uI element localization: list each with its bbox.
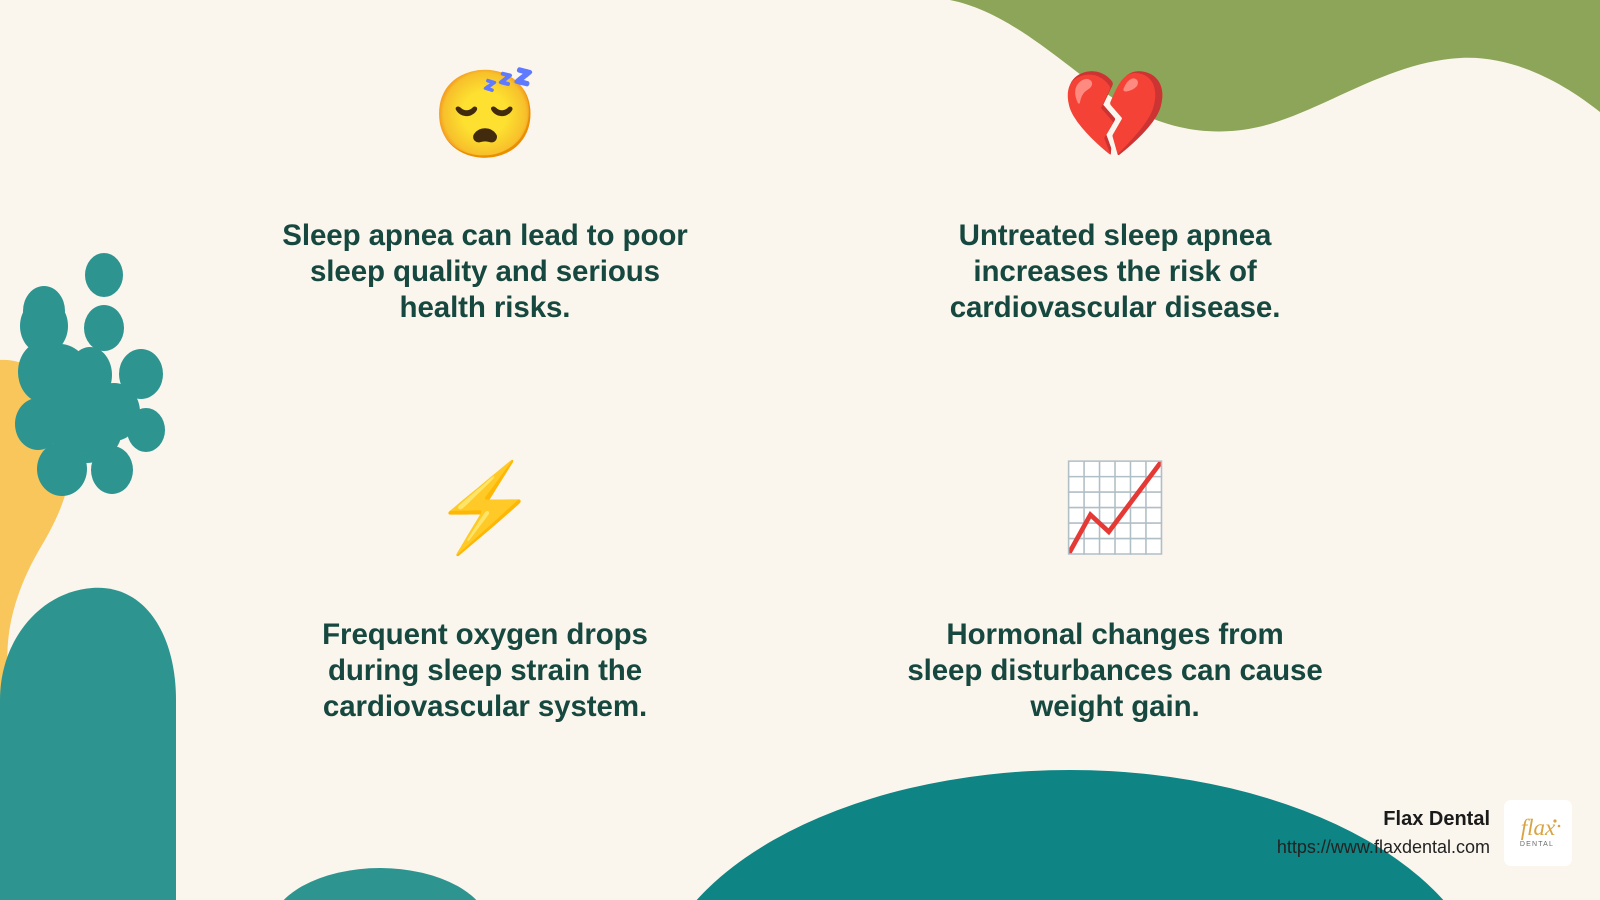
flax-logo-word: flax xyxy=(1521,815,1556,840)
card-oxygen-drops: ⚡ Frequent oxygen drops during sleep str… xyxy=(170,450,800,810)
flax-dental-logo: flax DENTAL xyxy=(1504,800,1572,866)
brand-url[interactable]: https://www.flaxdental.com xyxy=(1277,836,1490,859)
flax-logo-subtitle: DENTAL xyxy=(1520,841,1554,848)
flax-logo-mark: flax DENTAL xyxy=(1510,807,1566,859)
card-hormonal-changes: 📈 Hormonal changes from sleep disturbanc… xyxy=(800,450,1430,810)
card-cardiovascular-risk: 💔 Untreated sleep apnea increases the ri… xyxy=(800,60,1430,450)
brand-footer: Flax Dental https://www.flaxdental.com f… xyxy=(1277,800,1572,866)
card-text-hormonal-changes: Hormonal changes from sleep disturbances… xyxy=(907,617,1322,725)
cards-grid: 😴 Sleep apnea can lead to poor sleep qua… xyxy=(0,0,1600,900)
brand-name: Flax Dental xyxy=(1383,807,1490,832)
chart-increasing-icon: 📈 xyxy=(1061,450,1168,565)
broken-heart-icon: 💔 xyxy=(1061,60,1168,170)
infographic-canvas: 😴 Sleep apnea can lead to poor sleep qua… xyxy=(0,0,1600,900)
card-text-oxygen-drops: Frequent oxygen drops during sleep strai… xyxy=(322,617,648,725)
sleeping-face-icon: 😴 xyxy=(431,60,538,170)
card-text-sleep-quality: Sleep apnea can lead to poor sleep quali… xyxy=(282,218,687,326)
card-sleep-quality: 😴 Sleep apnea can lead to poor sleep qua… xyxy=(170,60,800,450)
card-text-cardiovascular-risk: Untreated sleep apnea increases the risk… xyxy=(950,218,1281,326)
brand-text-block: Flax Dental https://www.flaxdental.com xyxy=(1277,807,1490,859)
high-voltage-icon: ⚡ xyxy=(431,450,538,565)
